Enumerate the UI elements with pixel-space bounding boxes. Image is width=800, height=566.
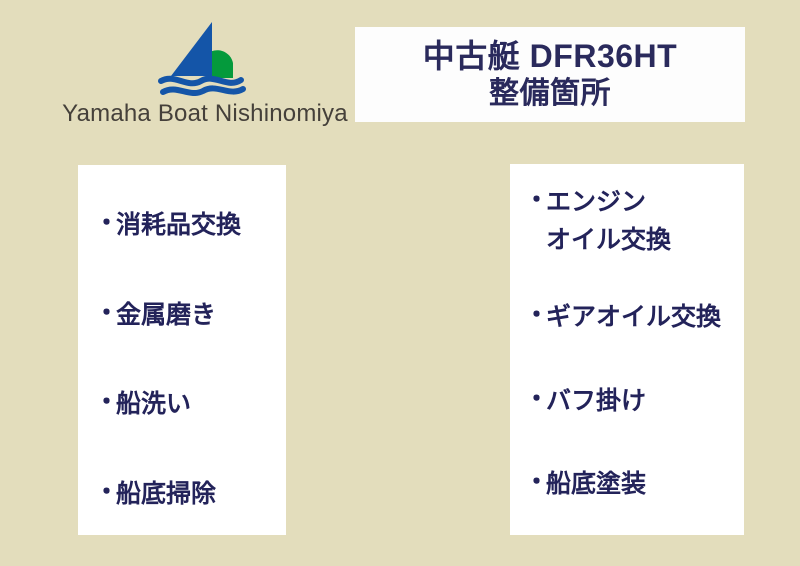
list-item: ・ バフ掛け (524, 383, 744, 421)
bullet-icon: ・ (94, 297, 116, 329)
maintenance-list-panel-left: ・ 消耗品交換 ・ 金属磨き ・ 船洗い ・ 船底掃除 (78, 165, 286, 535)
bullet-icon: ・ (94, 476, 116, 508)
title-banner: 中古艇 DFR36HT 整備箇所 (355, 27, 745, 122)
list-item-label: エンジン オイル交換 (546, 184, 671, 259)
brand-name: Yamaha Boat Nishinomiya (60, 100, 350, 128)
bullet-icon: ・ (524, 184, 546, 216)
page-title-line-2: 整備箇所 (489, 76, 611, 113)
list-item-label: 船底塗装 (546, 466, 646, 504)
slide-canvas: Yamaha Boat Nishinomiya 中古艇 DFR36HT 整備箇所… (0, 0, 800, 566)
list-item-label: ギアオイル交換 (546, 299, 721, 337)
list-item: ・ ギアオイル交換 (524, 299, 744, 337)
list-item: ・ 消耗品交換 (94, 207, 286, 245)
bullet-icon: ・ (524, 299, 546, 331)
list-item: ・ 船底塗装 (524, 466, 744, 504)
list-item: ・ 船洗い (94, 386, 286, 424)
list-item-label: 金属磨き (116, 297, 216, 335)
page-title-line-1: 中古艇 DFR36HT (423, 37, 677, 76)
bullet-icon: ・ (94, 386, 116, 418)
maintenance-list-panel-right: ・ エンジン オイル交換 ・ ギアオイル交換 ・ バフ掛け ・ 船底塗装 (510, 164, 744, 535)
list-item: ・ 金属磨き (94, 297, 286, 335)
bullet-icon: ・ (524, 383, 546, 415)
list-item: ・ エンジン オイル交換 (524, 184, 744, 259)
list-item-label-line-1: エンジン (546, 188, 646, 216)
brand-block: Yamaha Boat Nishinomiya (60, 10, 350, 130)
list-item-label: 消耗品交換 (116, 207, 241, 245)
list-item-label: バフ掛け (546, 383, 646, 421)
list-item-label: 船洗い (116, 386, 191, 424)
bullet-icon: ・ (94, 207, 116, 239)
list-item-label-line-2: オイル交換 (546, 222, 671, 260)
sailboat-logo-icon (155, 18, 255, 96)
list-item-label: 船底掃除 (116, 476, 216, 514)
list-item: ・ 船底掃除 (94, 476, 286, 514)
bullet-icon: ・ (524, 466, 546, 498)
